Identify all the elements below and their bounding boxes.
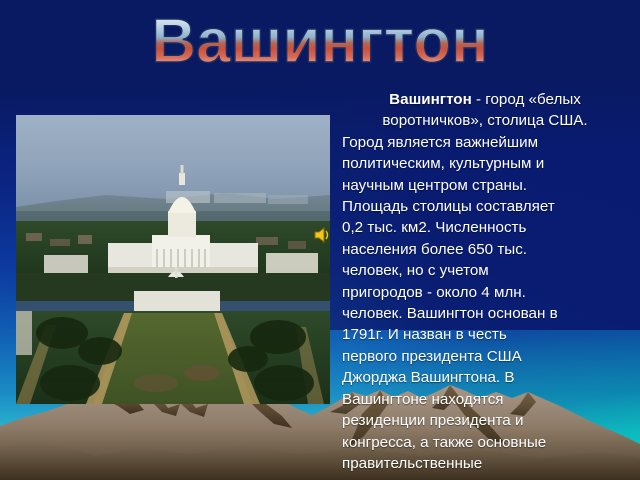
body-line: первого президента США: [330, 346, 640, 367]
body-line: научным центром страны.: [330, 175, 640, 196]
body-lead-word: Вашингтон: [389, 91, 472, 108]
body-line: 0,2 тыс. км2. Численность: [330, 217, 640, 238]
body-line: политическим, культурным и: [330, 153, 640, 174]
body-line: правительственные: [330, 453, 640, 474]
body-line: человек, но с учетом: [330, 260, 640, 281]
body-line: Площадь столицы составляет: [330, 196, 640, 217]
slide-body-text: Вашингтон - город «белых воротничков», с…: [330, 89, 640, 474]
body-line: резиденции президента и: [330, 410, 640, 431]
body-line: населения более 650 тыс.: [330, 239, 640, 260]
photo-illustration: [16, 115, 330, 404]
body-line: пригородов - около 4 млн.: [330, 282, 640, 303]
body-line: 1791г. И назван в честь: [330, 324, 640, 345]
slide-title-wordart: Вашингтон: [0, 2, 640, 82]
presentation-slide: Вашингтон: [0, 0, 640, 480]
title-label: Вашингтон: [151, 7, 488, 76]
body-line: Вашингтоне находятся: [330, 389, 640, 410]
title-text-svg: Вашингтон: [110, 2, 530, 80]
body-line: воротничков», столица США.: [330, 110, 640, 131]
washington-photo: [16, 115, 330, 404]
body-line: человек. Вашингтон основан в: [330, 303, 640, 324]
body-line: конгресса, а также основные: [330, 432, 640, 453]
body-line: Джорджа Вашингтона. В: [330, 367, 640, 388]
body-line: Город является важнейшим: [330, 132, 640, 153]
body-line-text: - город «белых: [472, 91, 581, 108]
body-line: Вашингтон - город «белых: [330, 89, 640, 110]
